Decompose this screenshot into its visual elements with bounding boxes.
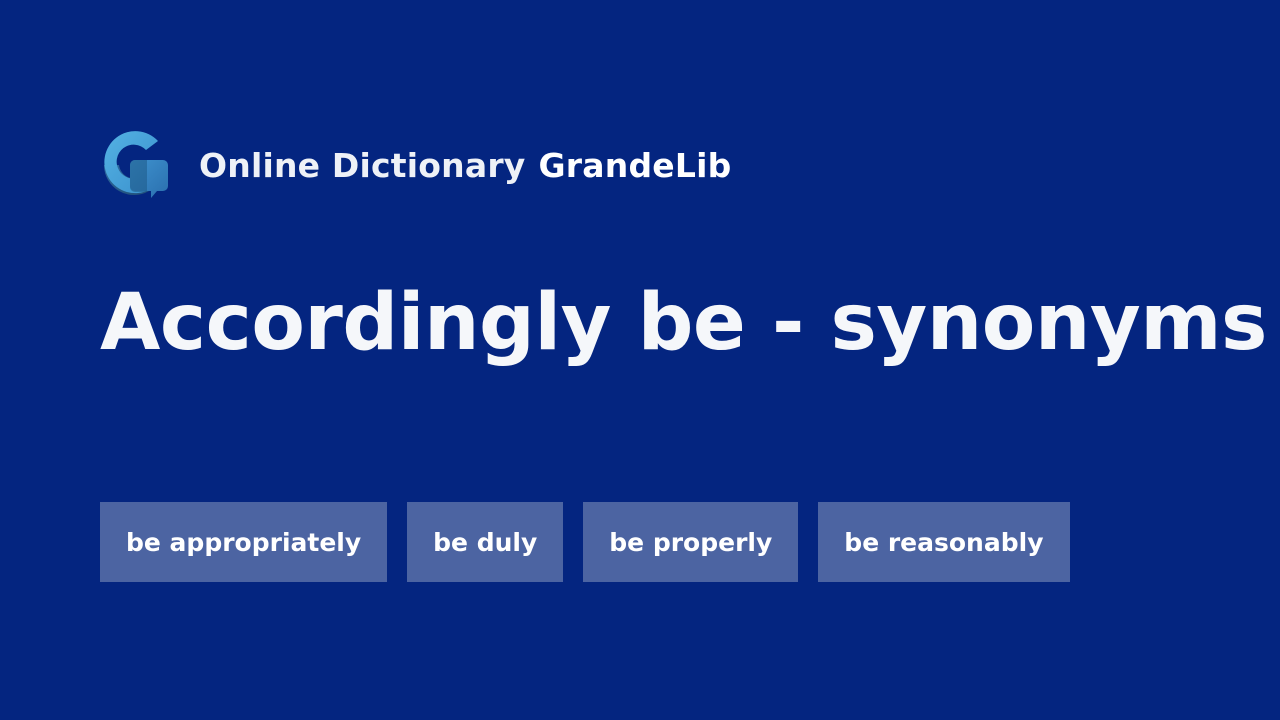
- brand-header[interactable]: Online Dictionary GrandeLib: [100, 130, 731, 200]
- synonym-list: be appropriately be duly be properly be …: [100, 502, 1070, 582]
- brand-prefix: Online Dictionary: [199, 149, 526, 182]
- grandelib-g-logo-icon: [100, 131, 172, 199]
- page-title: Accordingly be - synonyms: [100, 283, 1200, 365]
- page-root: Online Dictionary GrandeLib Accordingly …: [0, 0, 1280, 720]
- synonym-chip-4[interactable]: be reasonably: [818, 502, 1069, 582]
- synonym-chip-1[interactable]: be appropriately: [100, 502, 387, 582]
- synonym-chip-2[interactable]: be duly: [407, 502, 563, 582]
- brand-title: Online Dictionary GrandeLib: [199, 149, 731, 182]
- synonym-chip-3[interactable]: be properly: [583, 502, 798, 582]
- brand-name: GrandeLib: [539, 149, 732, 182]
